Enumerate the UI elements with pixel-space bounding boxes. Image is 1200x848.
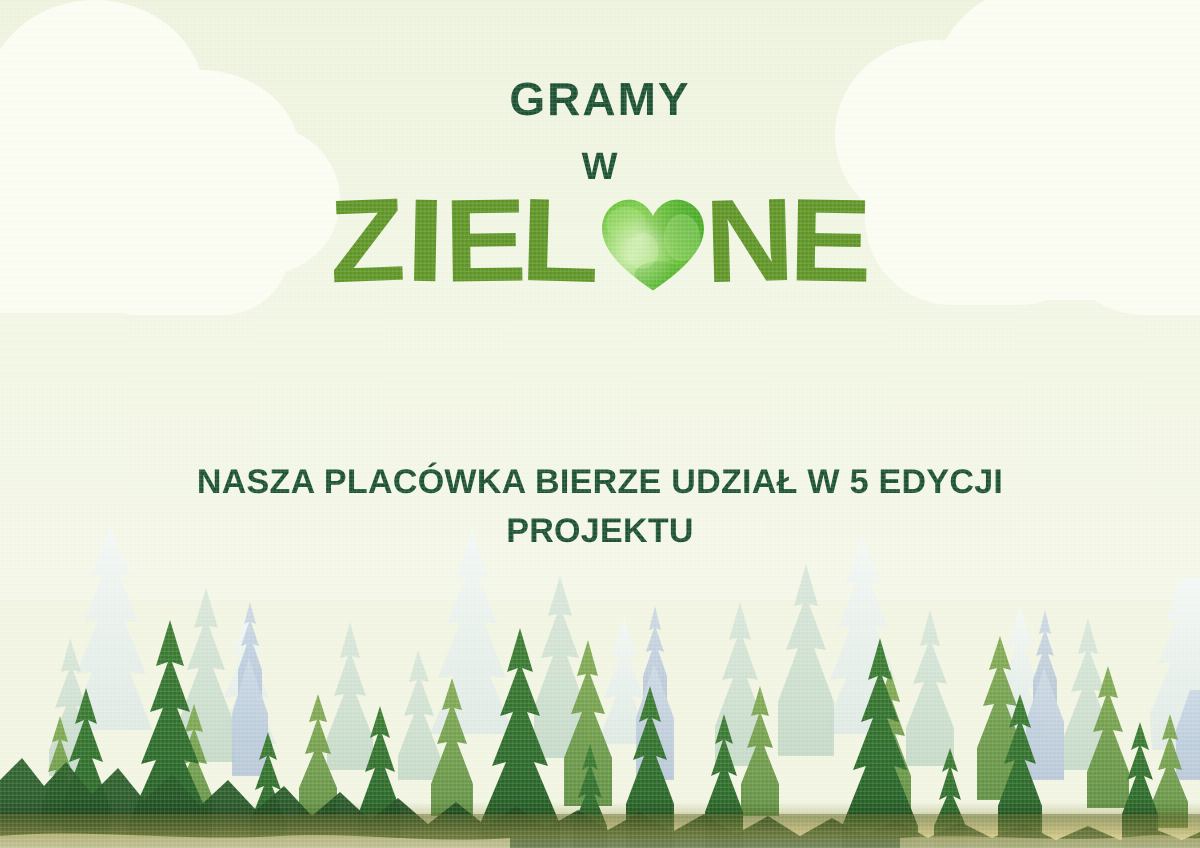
- wordmark-letter-l: L: [519, 185, 600, 297]
- wordmark-letter-z: Z: [327, 185, 406, 298]
- wordmark-letter-e-first: E: [443, 185, 526, 296]
- poster-canvas: GRAMY W Z I E L: [0, 0, 1200, 848]
- forest-illustration: [0, 518, 1200, 848]
- wordmark-letter-n: N: [703, 185, 794, 297]
- wordmark-letter-e-last: E: [788, 185, 872, 296]
- heart-icon: [597, 192, 709, 304]
- wordmark-zielone: Z I E L: [0, 186, 1200, 311]
- ground-strip: [0, 802, 1200, 848]
- kicker-line-1: GRAMY: [0, 76, 1200, 122]
- wordmark-letter-i: I: [404, 186, 446, 297]
